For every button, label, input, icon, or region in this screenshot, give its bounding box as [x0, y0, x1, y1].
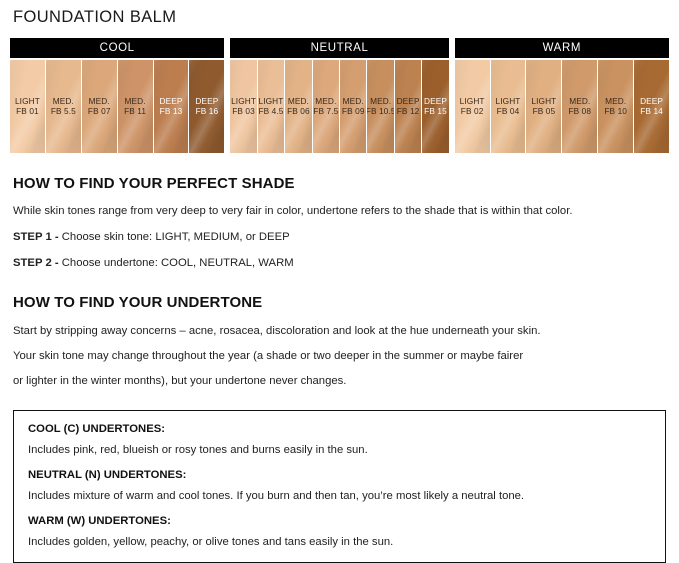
undertone-section: HOW TO FIND YOUR UNDERTONE Start by stri…: [13, 294, 669, 388]
shade-code: FB 05: [531, 106, 556, 117]
shade-code: FB 12: [397, 106, 420, 117]
shade-swatch[interactable]: DEEPFB 14: [634, 60, 669, 153]
page-title: FOUNDATION BALM: [13, 9, 669, 26]
shade-swatch-label: MED.FB 09: [342, 96, 365, 117]
shade-tone: MED.: [287, 96, 310, 107]
shade-code: FB 7.5: [313, 106, 338, 117]
shade-swatch-label: MED.FB 06: [287, 96, 310, 117]
shade-code: FB 08: [568, 106, 591, 117]
shade-tone: DEEP: [195, 96, 218, 107]
shade-code: FB 06: [287, 106, 310, 117]
shade-swatch-label: MED.FB 5.5: [51, 96, 76, 117]
definition-neutral-description: Includes mixture of warm and cool tones.…: [28, 489, 651, 503]
shade-chart: COOL LIGHTFB 01MED.FB 5.5MED.FB 07MED.FB…: [10, 38, 669, 153]
shade-code: FB 5.5: [51, 106, 76, 117]
step-2: STEP 2 - Choose undertone: COOL, NEUTRAL…: [13, 256, 669, 270]
shade-code: FB 14: [640, 106, 663, 117]
shade-swatch[interactable]: MED.FB 07: [82, 60, 117, 153]
shade-tone: MED.: [88, 96, 111, 107]
shade-swatch[interactable]: MED.FB 5.5: [46, 60, 81, 153]
shade-tone: LIGHT: [460, 96, 485, 107]
definition-warm: WARM (W) UNDERTONES: Includes golden, ye…: [28, 514, 651, 549]
step-1-text: Choose skin tone: LIGHT, MEDIUM, or DEEP: [59, 231, 290, 243]
shade-code: FB 16: [195, 106, 218, 117]
undertone-group-cool: COOL LIGHTFB 01MED.FB 5.5MED.FB 07MED.FB…: [10, 38, 224, 153]
shade-swatch-label: DEEPFB 15: [424, 96, 447, 117]
shade-swatch-label: DEEPFB 14: [640, 96, 663, 117]
undertone-heading: HOW TO FIND YOUR UNDERTONE: [13, 294, 669, 312]
step-2-label: STEP 2 -: [13, 257, 59, 269]
definition-warm-description: Includes golden, yellow, peachy, or oliv…: [28, 535, 651, 549]
shade-swatch-label: MED.FB 07: [88, 96, 111, 117]
shade-swatch-label: LIGHTFB 04: [496, 96, 521, 117]
shade-swatch-label: DEEPFB 13: [160, 96, 183, 117]
shade-swatch-label: MED.FB 10.5: [367, 96, 393, 117]
definition-cool-description: Includes pink, red, blueish or rosy tone…: [28, 443, 651, 457]
shade-code: FB 15: [424, 106, 447, 117]
shade-swatch-label: DEEPFB 16: [195, 96, 218, 117]
shade-tone: MED.: [124, 96, 146, 107]
perfect-shade-intro: While skin tones range from very deep to…: [13, 204, 669, 218]
shade-code: FB 10.5: [367, 106, 393, 117]
shade-code: FB 4.5: [258, 106, 283, 117]
definition-cool-term: COOL (C) UNDERTONES:: [28, 422, 651, 436]
shade-code: FB 13: [160, 106, 183, 117]
shade-swatch-label: MED.FB 7.5: [313, 96, 338, 117]
shade-tone: LIGHT: [231, 96, 256, 107]
shade-code: FB 03: [231, 106, 256, 117]
undertone-line-1: Start by stripping away concerns – acne,…: [13, 324, 669, 338]
shade-swatch-label: LIGHTFB 02: [460, 96, 485, 117]
shade-tone: DEEP: [424, 96, 447, 107]
shade-swatch[interactable]: LIGHTFB 01: [10, 60, 45, 153]
shade-swatch[interactable]: MED.FB 10: [598, 60, 633, 153]
shade-tone: DEEP: [160, 96, 183, 107]
shade-swatch[interactable]: MED.FB 08: [562, 60, 597, 153]
swatch-row-warm: LIGHTFB 02LIGHTFB 04LIGHTFB 05MED.FB 08M…: [455, 60, 669, 153]
undertone-line-2: Your skin tone may change throughout the…: [13, 349, 669, 363]
definition-neutral-term: NEUTRAL (N) UNDERTONES:: [28, 468, 651, 482]
shade-swatch[interactable]: DEEPFB 13: [154, 60, 189, 153]
definition-cool: COOL (C) UNDERTONES: Includes pink, red,…: [28, 422, 651, 457]
group-header-neutral: NEUTRAL: [230, 38, 448, 58]
shade-guide-page: FOUNDATION BALM COOL LIGHTFB 01MED.FB 5.…: [0, 9, 679, 553]
shade-tone: MED.: [51, 96, 76, 107]
shade-swatch[interactable]: LIGHTFB 03: [230, 60, 256, 153]
shade-swatch[interactable]: DEEPFB 12: [395, 60, 421, 153]
shade-code: FB 11: [124, 106, 146, 117]
shade-tone: LIGHT: [496, 96, 521, 107]
shade-tone: DEEP: [397, 96, 420, 107]
perfect-shade-section: HOW TO FIND YOUR PERFECT SHADE While ski…: [13, 175, 669, 270]
definition-warm-term: WARM (W) UNDERTONES:: [28, 514, 651, 528]
shade-swatch-label: MED.FB 08: [568, 96, 591, 117]
group-header-warm: WARM: [455, 38, 669, 58]
shade-tone: MED.: [568, 96, 591, 107]
step-1-label: STEP 1 -: [13, 231, 59, 243]
shade-swatch-label: MED.FB 10: [604, 96, 627, 117]
shade-swatch[interactable]: LIGHTFB 02: [455, 60, 490, 153]
shade-swatch[interactable]: DEEPFB 15: [422, 60, 448, 153]
shade-code: FB 01: [15, 106, 40, 117]
shade-code: FB 04: [496, 106, 521, 117]
shade-tone: MED.: [367, 96, 393, 107]
shade-swatch-label: DEEPFB 12: [397, 96, 420, 117]
shade-tone: LIGHT: [15, 96, 40, 107]
undertone-definitions-box: COOL (C) UNDERTONES: Includes pink, red,…: [13, 410, 666, 563]
shade-code: FB 09: [342, 106, 365, 117]
undertone-group-neutral: NEUTRAL LIGHTFB 03LIGHTFB 4.5MED.FB 06ME…: [230, 38, 448, 153]
shade-code: FB 10: [604, 106, 627, 117]
shade-swatch[interactable]: MED.FB 10.5: [367, 60, 393, 153]
shade-swatch[interactable]: DEEPFB 16: [189, 60, 224, 153]
shade-tone: LIGHT: [258, 96, 283, 107]
shade-tone: MED.: [342, 96, 365, 107]
shade-tone: MED.: [604, 96, 627, 107]
shade-swatch-label: LIGHTFB 01: [15, 96, 40, 117]
shade-swatch[interactable]: MED.FB 06: [285, 60, 311, 153]
step-1: STEP 1 - Choose skin tone: LIGHT, MEDIUM…: [13, 230, 669, 244]
shade-swatch[interactable]: LIGHTFB 05: [526, 60, 561, 153]
undertone-group-warm: WARM LIGHTFB 02LIGHTFB 04LIGHTFB 05MED.F…: [455, 38, 669, 153]
shade-swatch[interactable]: LIGHTFB 04: [491, 60, 526, 153]
shade-tone: MED.: [313, 96, 338, 107]
undertone-line-3: or lighter in the winter months), but yo…: [13, 374, 669, 388]
definition-neutral: NEUTRAL (N) UNDERTONES: Includes mixture…: [28, 468, 651, 503]
shade-swatch[interactable]: MED.FB 7.5: [313, 60, 339, 153]
shade-swatch[interactable]: MED.FB 11: [118, 60, 153, 153]
step-2-text: Choose undertone: COOL, NEUTRAL, WARM: [59, 257, 294, 269]
shade-swatch-label: LIGHTFB 03: [231, 96, 256, 117]
shade-tone: LIGHT: [531, 96, 556, 107]
shade-code: FB 07: [88, 106, 111, 117]
shade-swatch-label: MED.FB 11: [124, 96, 146, 117]
shade-swatch[interactable]: LIGHTFB 4.5: [258, 60, 284, 153]
group-header-cool: COOL: [10, 38, 224, 58]
swatch-row-neutral: LIGHTFB 03LIGHTFB 4.5MED.FB 06MED.FB 7.5…: [230, 60, 448, 153]
shade-code: FB 02: [460, 106, 485, 117]
shade-swatch-label: LIGHTFB 4.5: [258, 96, 283, 117]
shade-tone: DEEP: [640, 96, 663, 107]
shade-swatch[interactable]: MED.FB 09: [340, 60, 366, 153]
swatch-row-cool: LIGHTFB 01MED.FB 5.5MED.FB 07MED.FB 11DE…: [10, 60, 224, 153]
shade-swatch-label: LIGHTFB 05: [531, 96, 556, 117]
perfect-shade-heading: HOW TO FIND YOUR PERFECT SHADE: [13, 175, 669, 193]
